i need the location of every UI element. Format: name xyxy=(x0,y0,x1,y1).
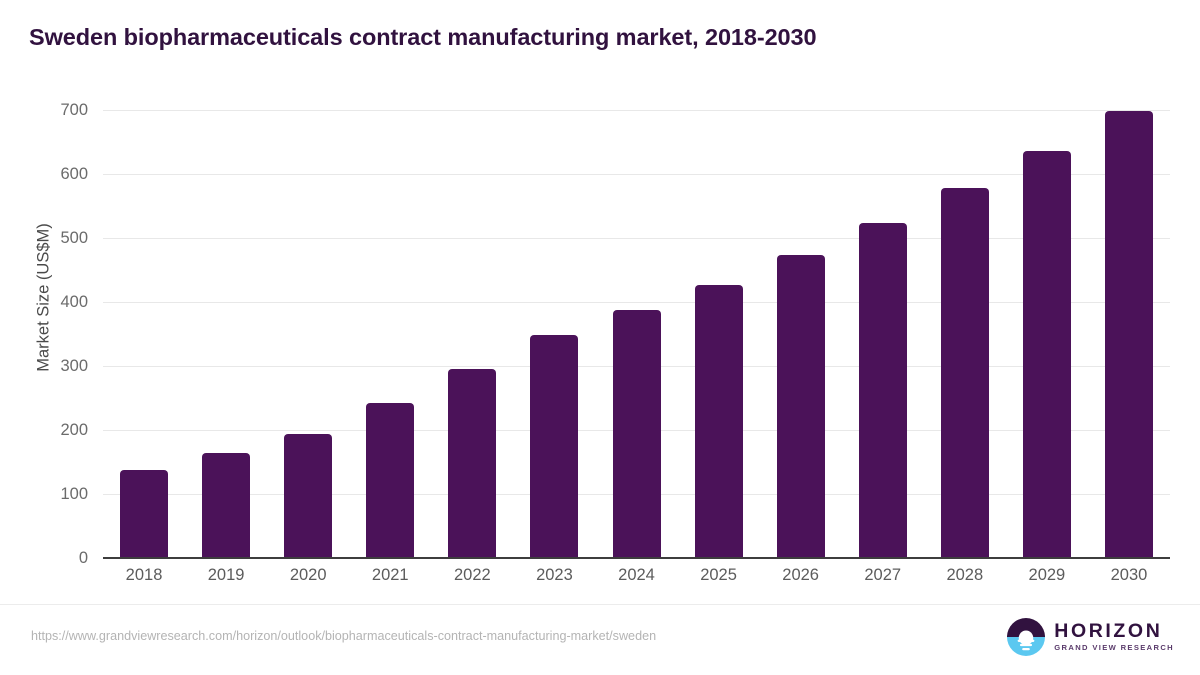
gridline xyxy=(103,110,1170,111)
gridline xyxy=(103,302,1170,303)
x-tick-label: 2025 xyxy=(679,566,759,585)
y-tick-label: 300 xyxy=(0,357,88,376)
sunrise-logo-icon xyxy=(1007,618,1045,656)
y-tick-label: 500 xyxy=(0,229,88,248)
brand-logo: HORIZON GRAND VIEW RESEARCH xyxy=(1007,618,1174,656)
gridline xyxy=(103,174,1170,175)
bar[interactable] xyxy=(120,470,168,558)
bar[interactable] xyxy=(284,434,332,558)
bar[interactable] xyxy=(530,335,578,558)
x-tick-label: 2024 xyxy=(597,566,677,585)
logo-wordmark: HORIZON xyxy=(1054,622,1174,642)
x-tick-label: 2029 xyxy=(1007,566,1087,585)
x-tick-label: 2021 xyxy=(350,566,430,585)
x-tick-label: 2022 xyxy=(432,566,512,585)
gridline xyxy=(103,238,1170,239)
x-tick-label: 2026 xyxy=(761,566,841,585)
x-tick-label: 2028 xyxy=(925,566,1005,585)
y-tick-label: 600 xyxy=(0,165,88,184)
bar[interactable] xyxy=(1023,151,1071,558)
x-tick-label: 2018 xyxy=(104,566,184,585)
y-tick-label: 200 xyxy=(0,421,88,440)
x-tick-label: 2027 xyxy=(843,566,923,585)
bar[interactable] xyxy=(859,223,907,558)
logo-text: HORIZON GRAND VIEW RESEARCH xyxy=(1054,622,1174,652)
bar[interactable] xyxy=(613,310,661,558)
page-title: Sweden biopharmaceuticals contract manuf… xyxy=(29,24,816,51)
y-tick-label: 400 xyxy=(0,293,88,312)
x-tick-label: 2030 xyxy=(1089,566,1169,585)
bar[interactable] xyxy=(366,403,414,558)
x-tick-label: 2020 xyxy=(268,566,348,585)
y-tick-label: 100 xyxy=(0,485,88,504)
bar[interactable] xyxy=(695,285,743,558)
footer-divider xyxy=(0,604,1200,605)
chart-page: Sweden biopharmaceuticals contract manuf… xyxy=(0,0,1200,675)
x-axis-line xyxy=(103,557,1170,559)
plot-area xyxy=(103,110,1170,558)
source-url[interactable]: https://www.grandviewresearch.com/horizo… xyxy=(31,629,656,643)
y-tick-label: 700 xyxy=(0,101,88,120)
bar[interactable] xyxy=(1105,111,1153,558)
logo-tagline: GRAND VIEW RESEARCH xyxy=(1054,644,1174,652)
x-tick-label: 2019 xyxy=(186,566,266,585)
bar[interactable] xyxy=(448,369,496,558)
x-axis-tick-labels: 2018201920202021202220232024202520262027… xyxy=(103,566,1170,596)
x-tick-label: 2023 xyxy=(514,566,594,585)
y-tick-label: 0 xyxy=(0,549,88,568)
bar[interactable] xyxy=(777,255,825,558)
bar[interactable] xyxy=(202,453,250,558)
bar[interactable] xyxy=(941,188,989,558)
y-axis-tick-labels: 0100200300400500600700 xyxy=(0,0,90,675)
